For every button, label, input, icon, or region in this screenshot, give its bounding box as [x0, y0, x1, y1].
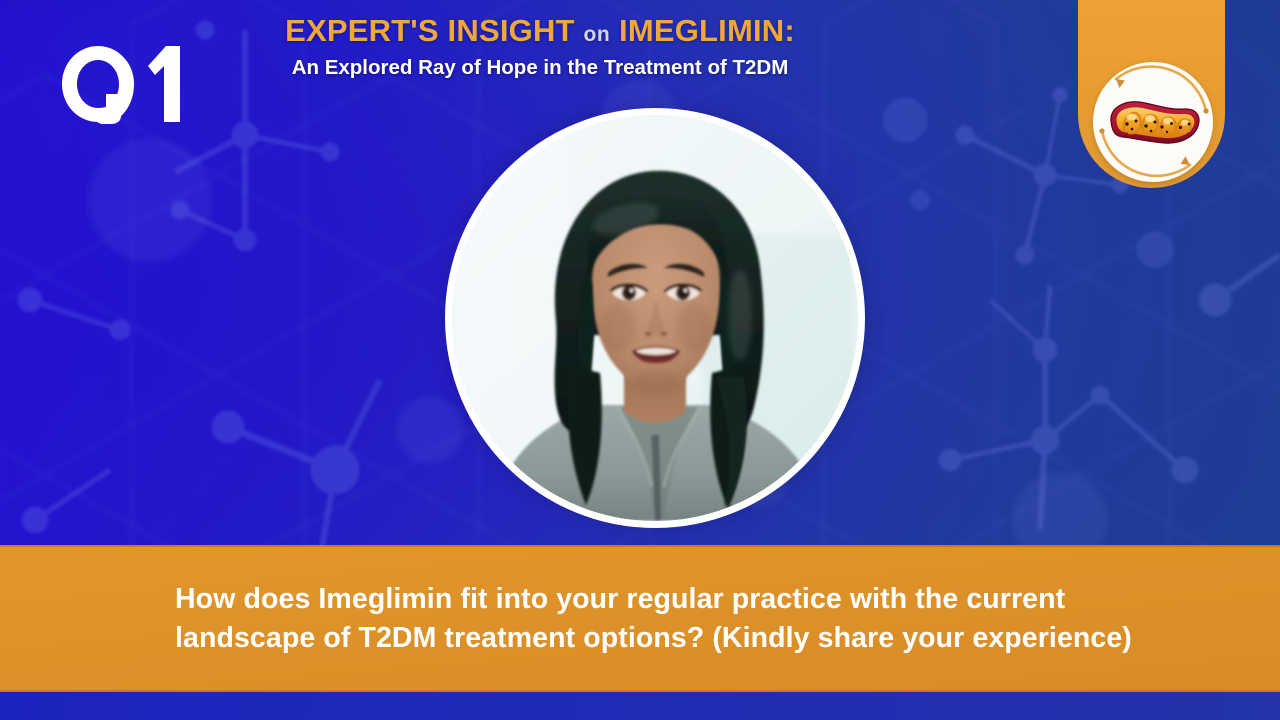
question-text: How does Imeglimin fit into your regular…: [175, 580, 1260, 658]
question-band-top-divider: [0, 545, 1280, 547]
slide-canvas: EXPERT'S INSIGHT on IMEGLIMIN: An Explor…: [0, 0, 1280, 720]
title-connector: on: [584, 23, 611, 46]
title-part-1: EXPERT'S INSIGHT: [285, 13, 575, 48]
question-line-1: How does Imeglimin fit into your regular…: [175, 580, 1260, 619]
question-band-bottom-divider: [0, 690, 1280, 692]
question-line-2: landscape of T2DM treatment options? (Ki…: [175, 619, 1260, 658]
speaker-video-circle[interactable]: [452, 115, 858, 521]
mitochondrion-icon: [1103, 95, 1203, 151]
title-part-2: IMEGLIMIN:: [619, 13, 795, 48]
bottom-blue-strip: [0, 692, 1280, 720]
speaker-video-ring: [445, 108, 865, 528]
question-number-badge: [60, 44, 190, 124]
